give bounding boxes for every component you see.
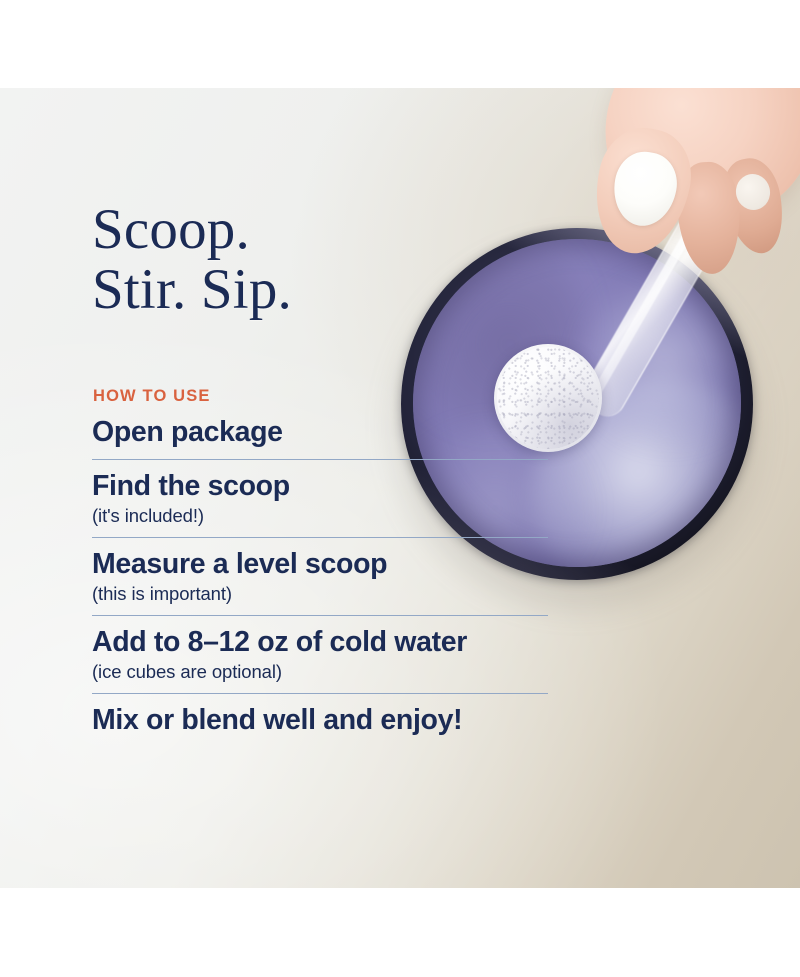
step-item-2: Find the scoop (it's included!)	[92, 468, 548, 528]
step-subtitle: (this is important)	[92, 581, 548, 606]
step-item-3: Measure a level scoop (this is important…	[92, 546, 548, 606]
step-divider-2	[92, 537, 548, 538]
step-title: Measure a level scoop	[92, 546, 548, 582]
step-item-5: Mix or blend well and enjoy!	[92, 702, 548, 738]
product-instruction-graphic: Scoop. Stir. Sip. HOW TO USE Open packag…	[0, 0, 800, 977]
step-item-1: Open package	[92, 414, 548, 450]
step-divider-4	[92, 693, 548, 694]
step-subtitle: (ice cubes are optional)	[92, 659, 548, 684]
page-title: Scoop. Stir. Sip.	[92, 200, 292, 320]
step-title: Find the scoop	[92, 468, 548, 504]
step-item-4: Add to 8–12 oz of cold water (ice cubes …	[92, 624, 548, 684]
step-title: Open package	[92, 414, 548, 450]
step-divider-1	[92, 459, 548, 460]
section-eyebrow-how-to-use: HOW TO USE	[93, 387, 211, 406]
instruction-step-list: Open package Find the scoop (it's includ…	[92, 414, 548, 738]
step-divider-3	[92, 615, 548, 616]
step-title: Mix or blend well and enjoy!	[92, 702, 548, 738]
step-subtitle: (it's included!)	[92, 503, 548, 528]
step-title: Add to 8–12 oz of cold water	[92, 624, 548, 660]
hand	[560, 88, 800, 318]
